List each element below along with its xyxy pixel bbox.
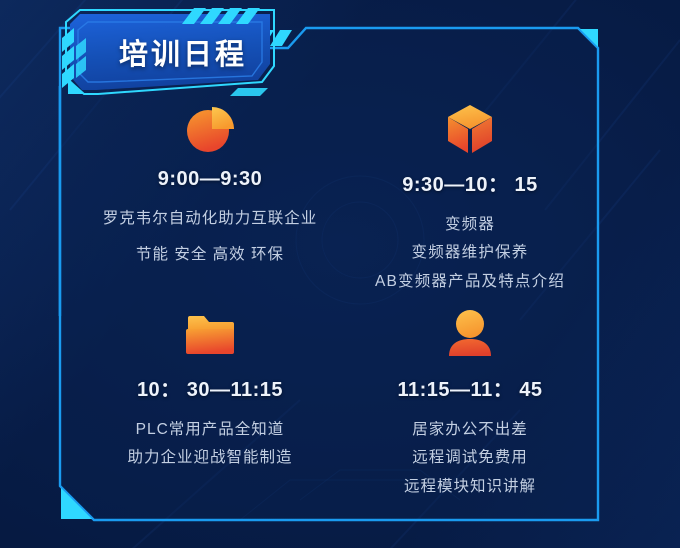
session-line: PLC常用产品全知道 (136, 418, 285, 441)
session-time: 9:30—10： 15 (402, 168, 538, 197)
title-badge: 培训日程 (62, 8, 278, 96)
session-lines: 居家办公不出差 远程调试免费用 远程模块知识讲解 (404, 418, 536, 498)
session-line: 罗克韦尔自动化助力互联企业 (103, 207, 318, 230)
session-line: 助力企业迎战智能制造 (127, 446, 292, 469)
session-lines: 罗克韦尔自动化助力互联企业 节能 安全 高效 环保 (103, 207, 318, 267)
session-card-2: 9:30—10： 15 变频器 变频器维护保养 AB变频器产品及特点介绍 (340, 100, 600, 305)
pie-chart-icon (178, 100, 242, 158)
session-lines: PLC常用产品全知道 助力企业迎战智能制造 (127, 418, 292, 470)
session-line: 节能 安全 高效 环保 (136, 243, 284, 266)
session-line: 远程模块知识讲解 (404, 475, 536, 498)
session-time: 10： 30—11:15 (137, 373, 283, 402)
session-line: 变频器维护保养 (412, 241, 529, 264)
session-line: AB变频器产品及特点介绍 (375, 270, 565, 293)
session-line: 变频器 (445, 213, 495, 236)
session-line: 远程调试免费用 (412, 446, 528, 469)
session-card-3: 10： 30—11:15 PLC常用产品全知道 助力企业迎战智能制造 (80, 305, 340, 510)
cube-box-icon (438, 100, 502, 158)
session-grid: 9:00—9:30 罗克韦尔自动化助力互联企业 节能 安全 高效 环保 (80, 100, 600, 510)
folder-icon (178, 305, 242, 363)
session-line: 居家办公不出差 (412, 418, 528, 441)
user-person-icon (438, 305, 502, 363)
session-lines: 变频器 变频器维护保养 AB变频器产品及特点介绍 (375, 213, 565, 293)
session-card-4: 11:15—11： 45 居家办公不出差 远程调试免费用 远程模块知识讲解 (340, 305, 600, 510)
page-title: 培训日程 (62, 8, 278, 96)
session-time: 9:00—9:30 (158, 168, 263, 191)
training-schedule-poster: 培训日程 (0, 0, 680, 548)
session-card-1: 9:00—9:30 罗克韦尔自动化助力互联企业 节能 安全 高效 环保 (80, 100, 340, 305)
session-time: 11:15—11： 45 (398, 373, 543, 402)
